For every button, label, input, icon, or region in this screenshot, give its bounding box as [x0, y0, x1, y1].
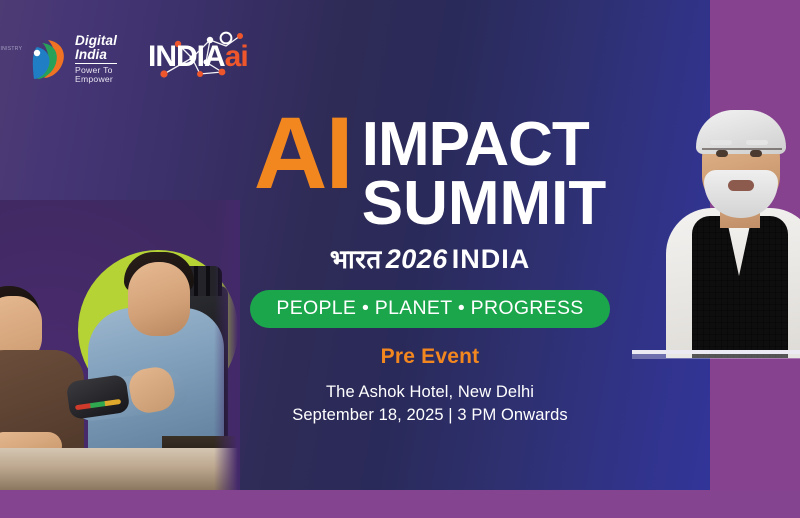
event-datetime: September 18, 2025 | 3 PM Onwards	[215, 406, 645, 425]
event-type-label: Pre Event	[215, 345, 645, 369]
event-title: AI IMPACT SUMMIT	[215, 110, 645, 234]
digital-india-swoosh-icon	[28, 38, 68, 80]
podium-edge-shadow	[632, 354, 800, 359]
title-word-stack: IMPACT SUMMIT	[362, 110, 607, 234]
dignitary-eye-right	[750, 150, 762, 157]
dignitary-mouth	[728, 180, 754, 191]
indiaai-wordmark: INDIAai	[148, 42, 260, 72]
subtitle-hindi: भारत	[330, 245, 382, 275]
indiaai-india-text: INDIA	[148, 40, 225, 73]
photo-man-head	[128, 262, 190, 336]
digital-india-logo[interactable]: Digital India Power To Empower	[28, 34, 117, 84]
dignitary-eye-left	[716, 150, 728, 157]
left-photo	[0, 200, 240, 490]
indiaai-ai-text: ai	[225, 40, 248, 73]
event-venue: The Ashok Hotel, New Delhi	[215, 383, 645, 402]
dignitary-brow-right	[746, 140, 768, 145]
digital-india-wordmark: Digital India Power To Empower	[75, 34, 117, 84]
bottom-strip	[0, 490, 800, 518]
title-accent-ai: AI	[254, 110, 352, 198]
dignitary-brow-left	[710, 140, 732, 145]
right-photo	[640, 96, 800, 358]
event-subtitle: भारत2026INDIA	[215, 240, 645, 276]
digital-india-name: Digital India	[75, 34, 117, 64]
digital-india-tagline: Power To Empower	[75, 66, 117, 84]
tagline-pill-wrap: PEOPLE • PLANET • PROGRESS	[215, 276, 645, 328]
title-impact: IMPACT	[362, 116, 589, 175]
subtitle-year: 2026	[386, 244, 448, 274]
tagline-pill: PEOPLE • PLANET • PROGRESS	[250, 290, 609, 328]
title-summit: SUMMIT	[362, 175, 607, 234]
ai-impact-summit-banner: MINISTRY Digital India Power To Empower	[0, 0, 800, 518]
subtitle-english: INDIA	[452, 244, 531, 274]
indiaai-logo[interactable]: INDIAai	[148, 28, 260, 86]
photo-desk	[0, 448, 240, 490]
hero-content: AI IMPACT SUMMIT भारत2026INDIA PEOPLE • …	[215, 110, 645, 425]
dignitary-glasses	[702, 148, 782, 164]
partner-cut-text: MINISTRY	[0, 46, 22, 53]
